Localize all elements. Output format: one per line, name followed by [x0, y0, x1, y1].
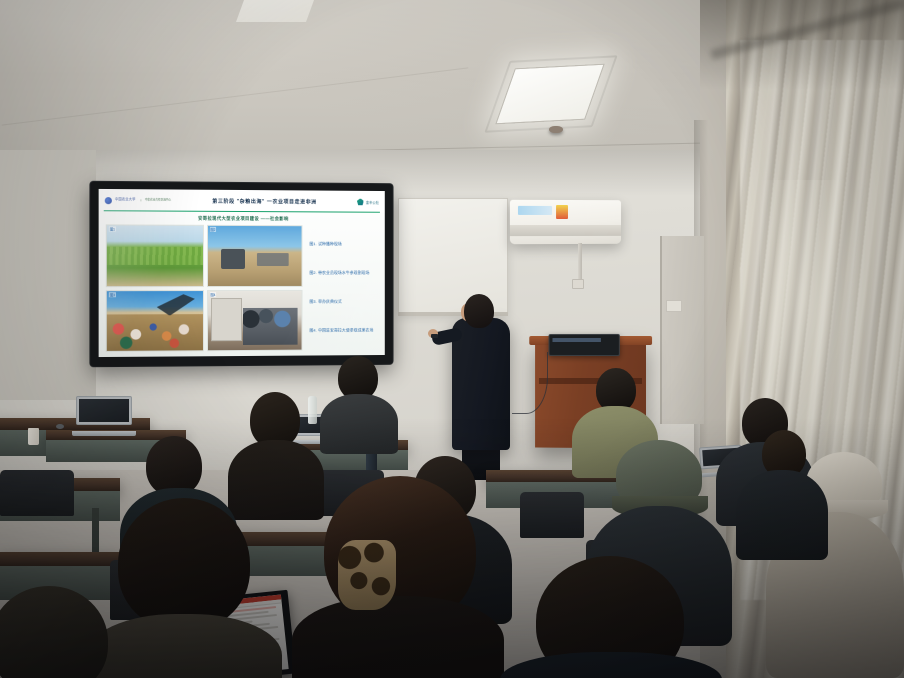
university-logo-icon — [105, 197, 112, 204]
slide-subtitle: 安哥拉现代大型农业项目建设 ——社会影响 — [99, 211, 385, 225]
ceiling-light-secondary — [236, 0, 314, 22]
slide-photo: 图4 — [206, 289, 302, 351]
slide-caption: 图2. 带农业员现场水牛参观割现场 — [309, 270, 378, 276]
slide-caption: 图4. 中国驻安哥拉大使参观成果农场 — [309, 327, 378, 333]
door-frame — [660, 236, 704, 424]
presentation-clicker[interactable] — [431, 334, 438, 338]
coffee-cup — [28, 428, 39, 445]
slide-photo: 图3 — [106, 290, 204, 352]
slide-photo-tag: 图4 — [210, 292, 217, 297]
wall-mounted-air-conditioner — [510, 200, 621, 244]
smoke-detector-icon — [549, 126, 563, 133]
ac-energy-sticker — [556, 205, 568, 219]
ac-air-vent — [510, 225, 621, 236]
ac-brand-label — [518, 206, 552, 215]
whiteboard — [398, 198, 508, 314]
slide-photo: 图1 — [106, 224, 204, 286]
desk — [0, 552, 120, 566]
slide-photo-tag: 图2 — [210, 227, 217, 232]
slide-header-title: 第三阶段 "杂粮出海" 一农业项目走进非洲 — [171, 197, 357, 205]
wall-mounted-flat-panel-display[interactable]: 中国农业大学 中非农业合作交流中心 第三阶段 "杂粮出海" 一农业项目走进非洲 … — [90, 182, 392, 366]
ac-drain-pipe — [578, 243, 582, 281]
laptop-lid — [76, 396, 132, 425]
slide-logo-right-label: 金丰公社 — [366, 199, 379, 204]
presenter-head — [464, 294, 494, 328]
slide-logo-left-secondary: 中非农业合作交流中心 — [141, 199, 171, 202]
partner-logo-icon — [357, 198, 364, 205]
slide-logo-left: 中国农业大学 中非农业合作交流中心 — [105, 197, 171, 204]
slide-photo: 图2 — [206, 225, 302, 287]
ceiling-shading — [0, 0, 760, 172]
audience-leopard-print-garment — [338, 540, 396, 610]
slide-photo-tag: 图1 — [109, 226, 116, 231]
display-screen: 中国农业大学 中非农业合作交流中心 第三阶段 "杂粮出海" 一农业项目走进非洲 … — [99, 189, 385, 357]
wall-outlet — [572, 279, 584, 289]
presentation-slide: 中国农业大学 中非农业合作交流中心 第三阶段 "杂粮出海" 一农业项目走进非洲 … — [99, 189, 385, 357]
slide-body: 图1 图2 图3 图4 图1. 试种播种现场 — [99, 224, 385, 357]
slide-photo-grid: 图1 图2 图3 图4 — [106, 224, 303, 352]
slide-caption: 图3. 举办庆典仪式 — [309, 298, 378, 304]
left-wall-panel — [0, 150, 96, 400]
slide-caption: 图1. 试种播种现场 — [309, 241, 378, 247]
chair — [520, 492, 584, 538]
laptop-base — [72, 431, 137, 436]
laptop[interactable] — [76, 396, 132, 436]
podium-monitor[interactable] — [549, 334, 620, 356]
wall-switch-box — [666, 300, 682, 312]
slide-photo-tag: 图3 — [109, 292, 116, 297]
computer-mouse[interactable] — [56, 424, 64, 429]
water-bottle — [308, 396, 317, 424]
desk-leg — [92, 508, 99, 552]
chair — [0, 470, 74, 516]
slide-caption-list: 图1. 试种播种现场 图2. 带农业员现场水牛参观割现场 图3. 举办庆典仪式 … — [307, 225, 378, 350]
slide-header: 中国农业大学 中非农业合作交流中心 第三阶段 "杂粮出海" 一农业项目走进非洲 … — [99, 189, 385, 213]
slide-logo-right: 金丰公社 — [357, 198, 379, 205]
classroom-presentation-scene: 中国农业大学 中非农业合作交流中心 第三阶段 "杂粮出海" 一农业项目走进非洲 … — [0, 0, 904, 678]
slide-logo-left-primary: 中国农业大学 — [115, 198, 136, 202]
